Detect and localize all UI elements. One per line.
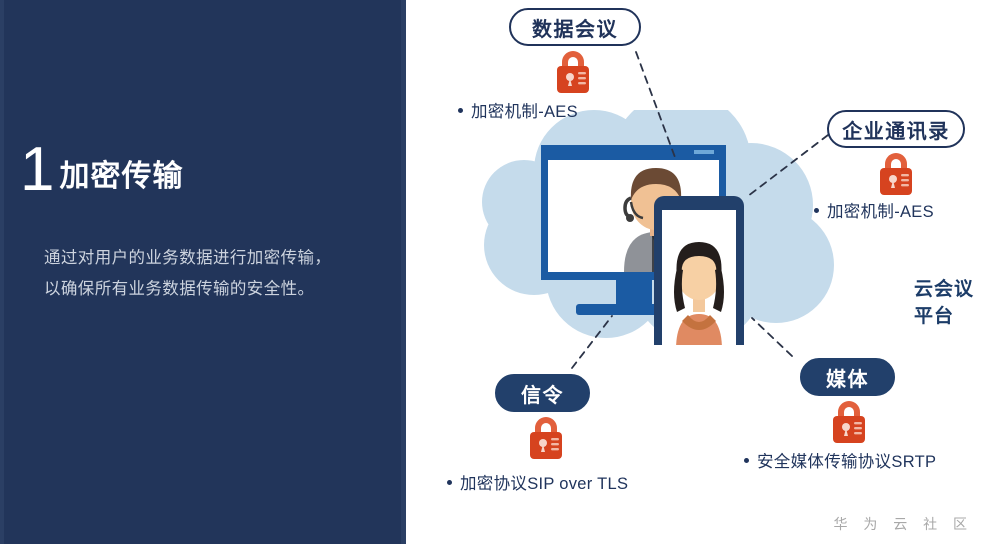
section-number: 1 bbox=[20, 145, 53, 196]
slide-canvas: 1 加密传输 通过对用户的业务数据进行加密传输， 以确保所有业务数据传输的安全性… bbox=[0, 0, 987, 544]
bullet-dot-icon bbox=[814, 208, 819, 213]
panel-body-text: 通过对用户的业务数据进行加密传输， 以确保所有业务数据传输的安全性。 bbox=[44, 243, 374, 304]
node-label-enterprise-contacts[interactable]: 企业通讯录 bbox=[827, 110, 965, 148]
padlock-icon bbox=[551, 47, 595, 95]
left-info-panel: 1 加密传输 通过对用户的业务数据进行加密传输， 以确保所有业务数据传输的安全性… bbox=[0, 0, 406, 544]
node-label-data-meeting[interactable]: 数据会议 bbox=[509, 8, 641, 46]
node-bullet-enterprise-contacts: 加密机制-AES bbox=[814, 198, 934, 222]
padlock-icon bbox=[524, 413, 568, 461]
node-bullet-text: 加密机制-AES bbox=[827, 198, 934, 222]
mobile-phone-illustration bbox=[654, 196, 744, 345]
cloud-platform-illustration bbox=[476, 110, 836, 345]
body-line-1: 通过对用户的业务数据进行加密传输， bbox=[44, 243, 374, 274]
bullet-dot-icon bbox=[744, 458, 749, 463]
node-label-media[interactable]: 媒体 bbox=[800, 358, 895, 396]
node-bullet-text: 加密协议SIP over TLS bbox=[460, 470, 628, 494]
cloud-platform-label: 云会议平台 bbox=[914, 274, 987, 328]
node-label-signaling[interactable]: 信令 bbox=[495, 374, 590, 412]
page-title: 加密传输 bbox=[59, 151, 183, 195]
node-bullet-text: 安全媒体传输协议SRTP bbox=[757, 448, 936, 472]
person-female-avatar bbox=[674, 242, 724, 345]
watermark: 华 为 云 社 区 bbox=[833, 514, 973, 534]
node-bullet-data-meeting: 加密机制-AES bbox=[458, 98, 578, 122]
padlock-icon bbox=[874, 149, 918, 197]
bullet-dot-icon bbox=[458, 108, 463, 113]
panel-heading: 1 加密传输 bbox=[20, 145, 183, 196]
node-bullet-media: 安全媒体传输协议SRTP bbox=[744, 448, 936, 472]
body-line-2: 以确保所有业务数据传输的安全性。 bbox=[44, 274, 374, 305]
padlock-icon bbox=[827, 397, 871, 445]
node-bullet-text: 加密机制-AES bbox=[471, 98, 578, 122]
node-bullet-signaling: 加密协议SIP over TLS bbox=[447, 470, 628, 494]
bullet-dot-icon bbox=[447, 480, 452, 485]
panel-left-edge bbox=[0, 0, 4, 544]
